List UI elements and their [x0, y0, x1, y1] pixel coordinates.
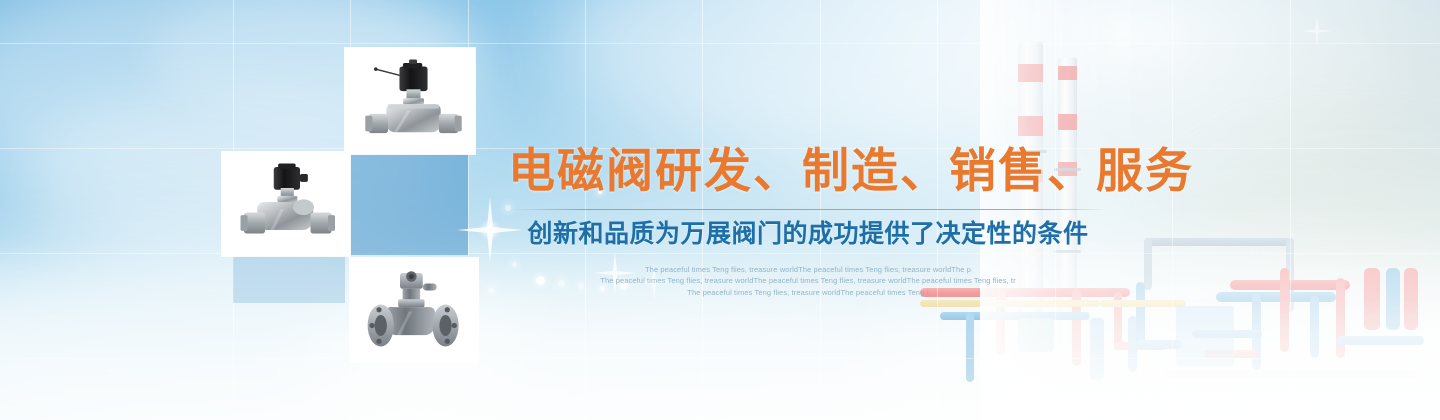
accent-panel [350, 152, 468, 255]
banner-blurb: The peaceful times Teng flies, treasure … [508, 264, 1108, 299]
product-tile[interactable] [350, 258, 478, 362]
banner-copy: 电磁阀研发、制造、销售、服务 创新和品质为万展阀门的成功提供了决定性的条件 Th… [508, 146, 1108, 298]
accent-panel [233, 255, 345, 303]
solenoid-valve-threaded-top-image [353, 56, 467, 149]
product-tile[interactable] [222, 152, 350, 256]
title-divider [510, 209, 1106, 210]
solenoid-valve-flanged-bottom-image [358, 266, 470, 357]
bokeh-dot [489, 288, 494, 293]
page-subtitle: 创新和品质为万展阀门的成功提供了决定性的条件 [508, 220, 1108, 249]
blurb-line: The peaceful times Teng flies, treasure … [508, 287, 1108, 299]
blurb-line: The peaceful times Teng flies, treasure … [508, 264, 1108, 276]
page-title: 电磁阀研发、制造、销售、服务 [508, 146, 1108, 197]
solenoid-valve-threaded-mid-image [230, 160, 342, 251]
product-tile[interactable] [345, 48, 475, 154]
hero-banner: 电磁阀研发、制造、销售、服务 创新和品质为万展阀门的成功提供了决定性的条件 Th… [0, 0, 1440, 420]
blurb-line: The peaceful times Teng flies, treasure … [508, 275, 1108, 287]
